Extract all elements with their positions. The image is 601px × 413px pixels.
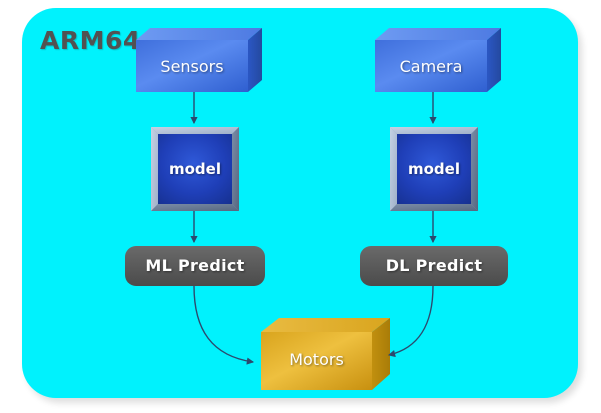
edge-dl-predict-to-motors [389,286,433,355]
edge-ml-predict-to-motors [194,286,253,362]
ml-model-hit-area[interactable] [151,127,239,211]
diagram-canvas: ARM64 [0,0,601,413]
motors-hit-area[interactable] [261,318,390,390]
camera-hit-area[interactable] [375,28,501,92]
ml-predict-hit-area[interactable] [125,246,265,286]
sensors-hit-area[interactable] [136,28,262,92]
dl-model-hit-area[interactable] [390,127,478,211]
dl-predict-hit-area[interactable] [360,246,508,286]
